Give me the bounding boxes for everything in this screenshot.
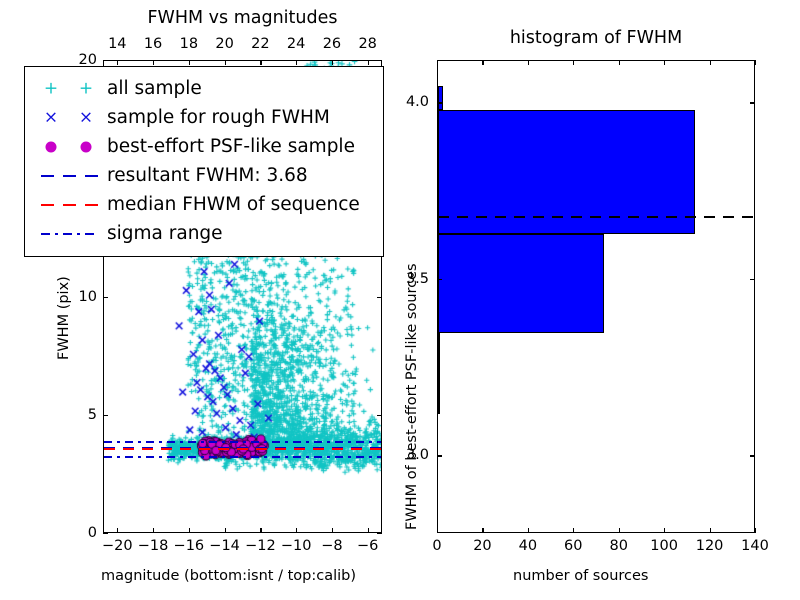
left-panel-title: FWHM vs magnitudes (103, 8, 382, 28)
y-tick-label: 5 (61, 407, 97, 423)
x-tick (296, 60, 297, 65)
resultant-fwhm-line (104, 447, 381, 449)
x-tick (482, 528, 483, 533)
y-tick (377, 297, 382, 298)
x-tick (260, 60, 261, 65)
x-tick-label: 40 (519, 538, 537, 554)
x-tick (225, 528, 226, 533)
legend-item-label: median FHWM of sequence (107, 192, 360, 218)
x-tick-label: 80 (609, 538, 627, 554)
filled-circle-icon (46, 141, 57, 152)
x-tick (755, 60, 756, 65)
dashdot-line-icon (41, 233, 99, 235)
x-tick-label: −18 (138, 538, 169, 554)
x-tick (189, 528, 190, 533)
legend-item[interactable]: resultant FWHM: 3.68 (33, 161, 375, 190)
dashed-line-icon (41, 175, 99, 177)
right-panel-title: histogram of FWHM (437, 28, 755, 48)
legend-item[interactable]: median FHWM of sequence (33, 190, 375, 219)
x-tick (482, 60, 483, 65)
x-tick-label-top: 16 (144, 36, 162, 52)
legend-marker-plus-icon: ++ (33, 76, 107, 102)
x-tick-label: −12 (245, 538, 276, 554)
sigma-upper-line (104, 441, 381, 443)
y-tick (103, 297, 108, 298)
dashed-line-icon (41, 204, 99, 206)
x-tick (755, 528, 756, 533)
y-tick (750, 455, 755, 456)
x-tick-label-top: 26 (323, 36, 341, 52)
legend-box[interactable]: ++all sample××sample for rough FWHMbest-… (24, 66, 384, 257)
x-tick-label: 140 (741, 538, 769, 554)
histogram-bar (438, 234, 604, 333)
y-tick-label: 3.5 (391, 271, 429, 287)
x-tick (664, 60, 665, 65)
left-panel-xlabel: magnitude (bottom:isnt / top:calib) (101, 568, 356, 584)
x-tick-label-top: 20 (215, 36, 233, 52)
y-tick (377, 415, 382, 416)
histogram-resultant-line (438, 216, 754, 218)
x-tick (260, 528, 261, 533)
x-tick-label: 20 (473, 538, 491, 554)
legend-item[interactable]: best-effort PSF-like sample (33, 132, 375, 161)
plus-icon: + (79, 80, 93, 97)
legend-item-label: sample for rough FWHM (107, 105, 330, 131)
filled-circle-icon (81, 141, 92, 152)
legend-item[interactable]: ++all sample (33, 74, 375, 103)
plus-icon: + (44, 80, 58, 97)
x-tick-label: −20 (102, 538, 133, 554)
x-tick (189, 60, 190, 65)
y-tick-label: 3.0 (391, 447, 429, 463)
legend-item[interactable]: ××sample for rough FWHM (33, 103, 375, 132)
y-tick (437, 102, 442, 103)
x-tick-label: −10 (281, 538, 312, 554)
histogram-bar (438, 86, 443, 111)
median-fwhm-line (104, 448, 381, 450)
y-tick-label: 10 (61, 289, 97, 305)
legend-item-label: best-effort PSF-like sample (107, 134, 355, 160)
x-tick (332, 60, 333, 65)
x-tick (332, 528, 333, 533)
x-tick (573, 60, 574, 65)
x-tick-label: −6 (357, 538, 378, 554)
right-panel-ylabel: FWHM of best-effort PSF-like sources (404, 263, 420, 530)
x-tick (153, 60, 154, 65)
x-tick (619, 60, 620, 65)
y-tick (103, 60, 108, 61)
x-tick-label-top: 14 (108, 36, 126, 52)
x-tick-label-top: 28 (358, 36, 376, 52)
x-tick (573, 528, 574, 533)
histogram-bar (438, 110, 695, 234)
x-tick-label-top: 24 (287, 36, 305, 52)
y-tick (437, 279, 442, 280)
legend-item-label: sigma range (107, 221, 223, 247)
legend-marker-dashed-line-icon (33, 163, 107, 189)
y-tick (437, 455, 442, 456)
x-tick-label: −14 (209, 538, 240, 554)
x-tick (117, 60, 118, 65)
legend-marker-cross-icon: ×× (33, 105, 107, 131)
x-tick (710, 60, 711, 65)
x-tick-label-top: 18 (180, 36, 198, 52)
x-tick (117, 528, 118, 533)
x-tick-label: 60 (564, 538, 582, 554)
legend-marker-dashdot-line-icon (33, 221, 107, 247)
y-tick (750, 102, 755, 103)
legend-item[interactable]: sigma range (33, 219, 375, 248)
x-tick-label: 120 (696, 538, 724, 554)
y-tick (103, 533, 108, 534)
cross-icon: × (44, 109, 58, 126)
x-tick-label: 100 (650, 538, 678, 554)
y-tick (377, 60, 382, 61)
x-tick (225, 60, 226, 65)
x-tick (528, 60, 529, 65)
histogram-bar (438, 333, 440, 414)
x-tick-label: 0 (432, 538, 441, 554)
x-tick-label: −16 (174, 538, 205, 554)
right-panel-xlabel: number of sources (513, 568, 649, 584)
x-tick (368, 528, 369, 533)
legend-item-label: resultant FWHM: 3.68 (107, 163, 308, 189)
x-tick (619, 528, 620, 533)
legend-marker-dashed-line-icon (33, 192, 107, 218)
y-tick-label: 4.0 (391, 94, 429, 110)
legend-item-label: all sample (107, 76, 202, 102)
legend-marker-filled-circle-icon (33, 134, 107, 160)
x-tick (664, 528, 665, 533)
x-tick (528, 528, 529, 533)
x-tick (437, 528, 438, 533)
x-tick (368, 60, 369, 65)
x-tick-label: −8 (321, 538, 342, 554)
y-tick-label: 0 (61, 525, 97, 541)
cross-icon: × (79, 109, 93, 126)
sigma-lower-line (104, 456, 381, 458)
x-tick (153, 528, 154, 533)
histogram-data-layer (438, 61, 754, 532)
right-plot-axes[interactable] (437, 60, 755, 533)
x-tick (437, 60, 438, 65)
x-tick (710, 528, 711, 533)
y-tick (750, 279, 755, 280)
figure-canvas: FWHM vs magnitudes FWHM (pix) magnitude … (0, 0, 800, 600)
x-tick-label-top: 22 (251, 36, 269, 52)
x-tick (296, 528, 297, 533)
y-tick (377, 533, 382, 534)
y-tick (103, 415, 108, 416)
